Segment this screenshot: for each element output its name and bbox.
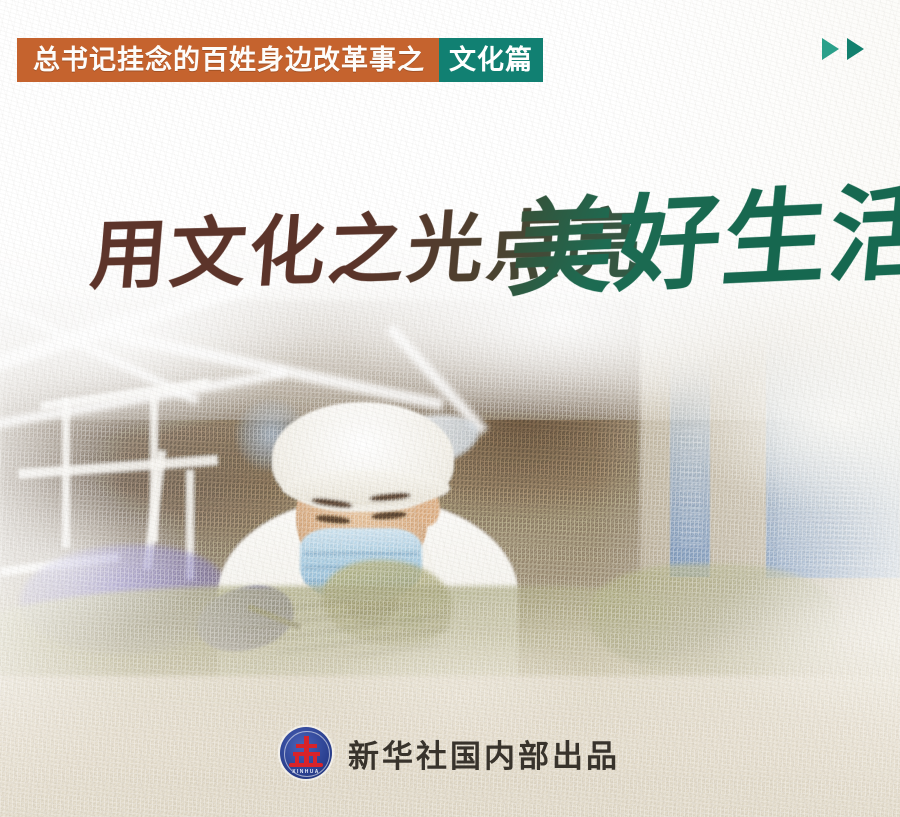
xinhua-logo-crossbar xyxy=(296,744,317,748)
series-banner-section: 文化篇 xyxy=(439,38,543,82)
paper-grain-texture-shadow xyxy=(0,0,900,817)
series-banner-main: 总书记挂念的百姓身边改革事之 xyxy=(17,38,439,82)
xinhua-logo-mast xyxy=(304,736,309,764)
series-banner: 总书记挂念的百姓身边改革事之 文化篇 xyxy=(17,38,543,82)
series-label: 总书记挂念的百姓身边改革事之 xyxy=(33,47,425,74)
xinhua-logo-icon: XINHUA xyxy=(280,727,332,779)
section-label: 文化篇 xyxy=(449,47,533,74)
play-triangle-icon xyxy=(847,38,864,60)
arrow-decoration-group xyxy=(822,38,864,60)
footer-credit: XINHUA 新华社国内部出品 xyxy=(0,727,900,779)
credit-text: 新华社国内部出品 xyxy=(348,731,620,776)
poster-root: 总书记挂念的百姓身边改革事之 文化篇 用文化之光点亮 美好生活 XINHUA 新… xyxy=(0,0,900,817)
main-title-part-2: 美好生活 xyxy=(504,146,900,316)
play-triangle-icon xyxy=(822,38,839,60)
xinhua-logo-base xyxy=(289,763,323,767)
xinhua-logo-wordmark: XINHUA xyxy=(280,769,332,775)
main-title: 用文化之光点亮 美好生活 xyxy=(0,150,900,300)
